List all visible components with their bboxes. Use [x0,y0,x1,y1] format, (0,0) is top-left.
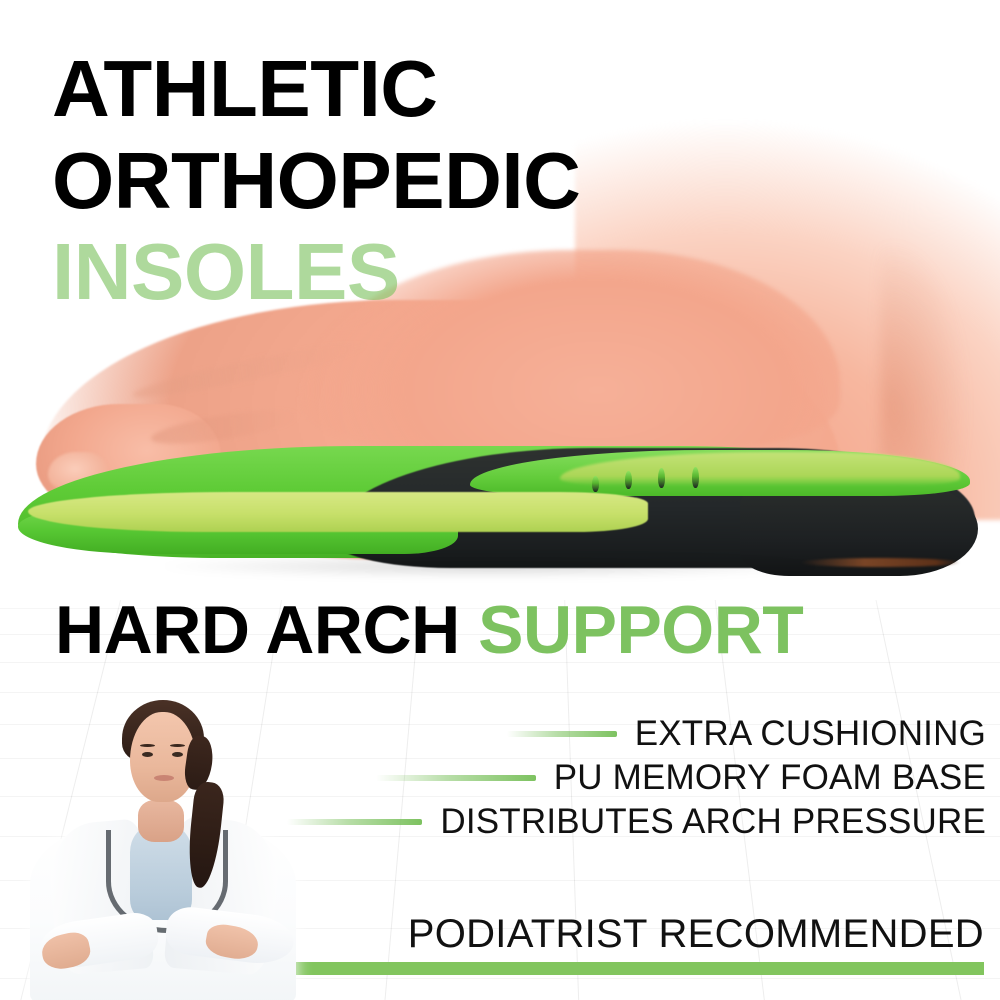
feature-label: EXTRA CUSHIONING [635,714,986,754]
feature-item: EXTRA CUSHIONING [286,712,986,756]
eye [172,752,183,757]
vent-hole-icon [658,468,665,488]
vent-hole-icon [692,467,699,488]
vent-hole-icon [592,476,599,492]
feature-label: DISTRIBUTES ARCH PRESSURE [440,802,986,842]
headline-line-3: INSOLES [52,235,772,309]
insole-top-fabric [28,492,648,532]
feature-label: PU MEMORY FOAM BASE [554,758,986,798]
feature-dash-icon [507,731,617,737]
feature-item: PU MEMORY FOAM BASE [286,756,986,800]
headline-line-1: ATHLETIC [52,52,772,126]
feature-dash-icon [376,775,536,781]
product-ad-poster: ATHLETIC ORTHOPEDIC INSOLES HARD ARCH SU… [0,0,1000,1000]
headline-block: ATHLETIC ORTHOPEDIC INSOLES [52,52,772,309]
eyebrow [170,744,185,747]
eye [142,752,153,757]
subheadline: HARD ARCH SUPPORT [55,596,803,664]
subheadline-black: HARD ARCH [55,592,478,668]
endorsement-text: PODIATRIST RECOMMENDED [408,912,984,957]
subheadline-green: SUPPORT [478,592,803,668]
eyebrow [140,744,155,747]
insole-product [0,430,1000,600]
doctor-photo [18,690,308,1000]
feature-list: EXTRA CUSHIONING PU MEMORY FOAM BASE DIS… [286,712,986,844]
vent-hole-icon [625,471,632,489]
doctor-fade [18,940,308,1000]
mouth [154,775,174,781]
headline-line-2: ORTHOPEDIC [52,144,772,218]
insole-contact-shadow [40,556,940,582]
feature-item: DISTRIBUTES ARCH PRESSURE [286,800,986,844]
